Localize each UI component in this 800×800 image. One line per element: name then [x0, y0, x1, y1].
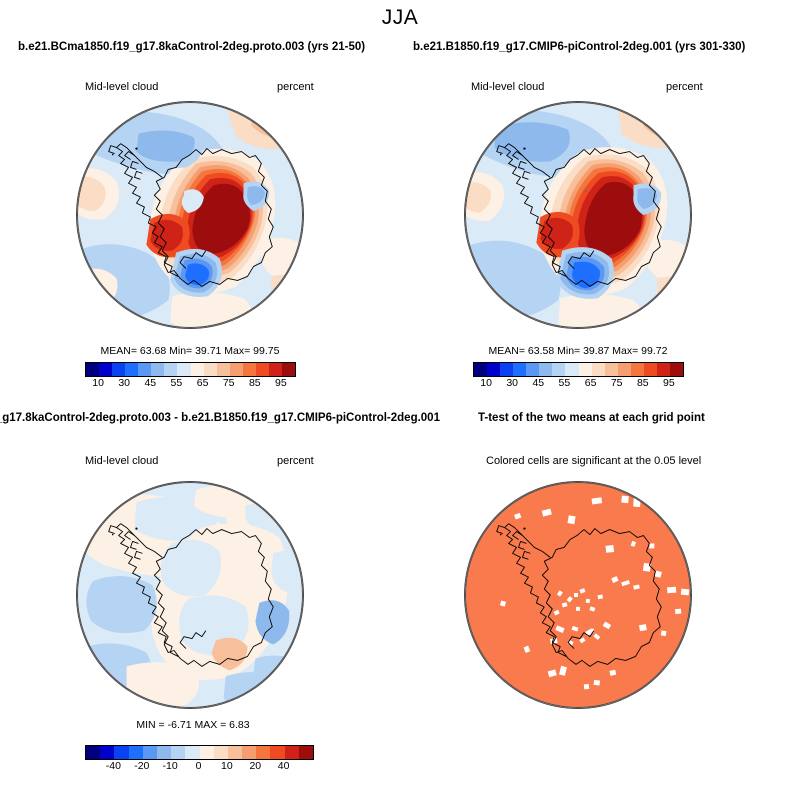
cbar-tick: 0: [196, 760, 202, 772]
panel-variable-label-bottom-left: Mid-level cloud: [85, 455, 158, 467]
colorbar-ticks-top-left: 10 30 45 55 65 75 85 95: [85, 377, 294, 391]
cbar-tick: 85: [249, 377, 261, 389]
map-bottom-left: [76, 481, 304, 709]
panel-variable-label-top-left: Mid-level cloud: [85, 81, 158, 93]
map-top-left: [76, 101, 304, 329]
cbar-tick: 95: [663, 377, 675, 389]
panel-title-top-left: b.e21.BCma1850.f19_g17.8kaControl-2deg.p…: [18, 41, 365, 53]
panel-title-top-right: b.e21.B1850.f19_g17.CMIP6-piControl-2deg…: [413, 41, 745, 53]
colorbar-ticks-top-right: 10 30 45 55 65 75 85 95: [473, 377, 682, 391]
panel-units-label-top-left: percent: [277, 81, 314, 93]
cbar-tick: 40: [278, 760, 290, 772]
cbar-tick: 10: [92, 377, 104, 389]
cbar-tick: 65: [585, 377, 597, 389]
cbar-tick: 30: [506, 377, 518, 389]
cbar-tick: 75: [223, 377, 235, 389]
cbar-tick: -10: [163, 760, 178, 772]
panel-stats-bottom-left: MIN = -6.71 MAX = 6.83: [48, 719, 338, 731]
panel-units-label-top-right: percent: [666, 81, 703, 93]
cbar-tick: -40: [106, 760, 121, 772]
cbar-tick: 45: [144, 377, 156, 389]
panel-stats-top-left: MEAN= 63.68 Min= 39.71 Max= 99.75: [40, 345, 340, 357]
panel-stats-top-right: MEAN= 63.58 Min= 39.87 Max= 99.72: [428, 345, 728, 357]
cbar-tick: 75: [611, 377, 623, 389]
cbar-tick: 30: [118, 377, 130, 389]
cbar-tick: 55: [559, 377, 571, 389]
cbar-tick: 85: [637, 377, 649, 389]
cbar-tick: 65: [197, 377, 209, 389]
cbar-tick: -20: [134, 760, 149, 772]
cbar-tick: 95: [275, 377, 287, 389]
cbar-tick: 10: [221, 760, 233, 772]
panel-units-label-bottom-left: percent: [277, 455, 314, 467]
panel-significance-subtitle: Colored cells are significant at the 0.0…: [486, 455, 701, 467]
panel-title-bottom-left: .f19_g17.8kaControl-2deg.proto.003 - b.e…: [0, 412, 440, 424]
cbar-tick: 45: [532, 377, 544, 389]
panel-title-bottom-right: T-test of the two means at each grid poi…: [478, 412, 705, 424]
panel-variable-label-top-right: Mid-level cloud: [471, 81, 544, 93]
colorbar-ticks-bottom-left: -40 -20 -10 0 10 20 40: [85, 760, 312, 774]
map-top-right: [464, 101, 692, 329]
colorbar-top-right: [473, 362, 684, 377]
cbar-tick: 55: [171, 377, 183, 389]
figure-season-title: JJA: [0, 6, 800, 30]
colorbar-bottom-left: [85, 745, 314, 760]
cbar-tick: 10: [480, 377, 492, 389]
map-bottom-right-ttest: [464, 481, 692, 709]
colorbar-top-left: [85, 362, 296, 377]
cbar-tick: 20: [249, 760, 261, 772]
